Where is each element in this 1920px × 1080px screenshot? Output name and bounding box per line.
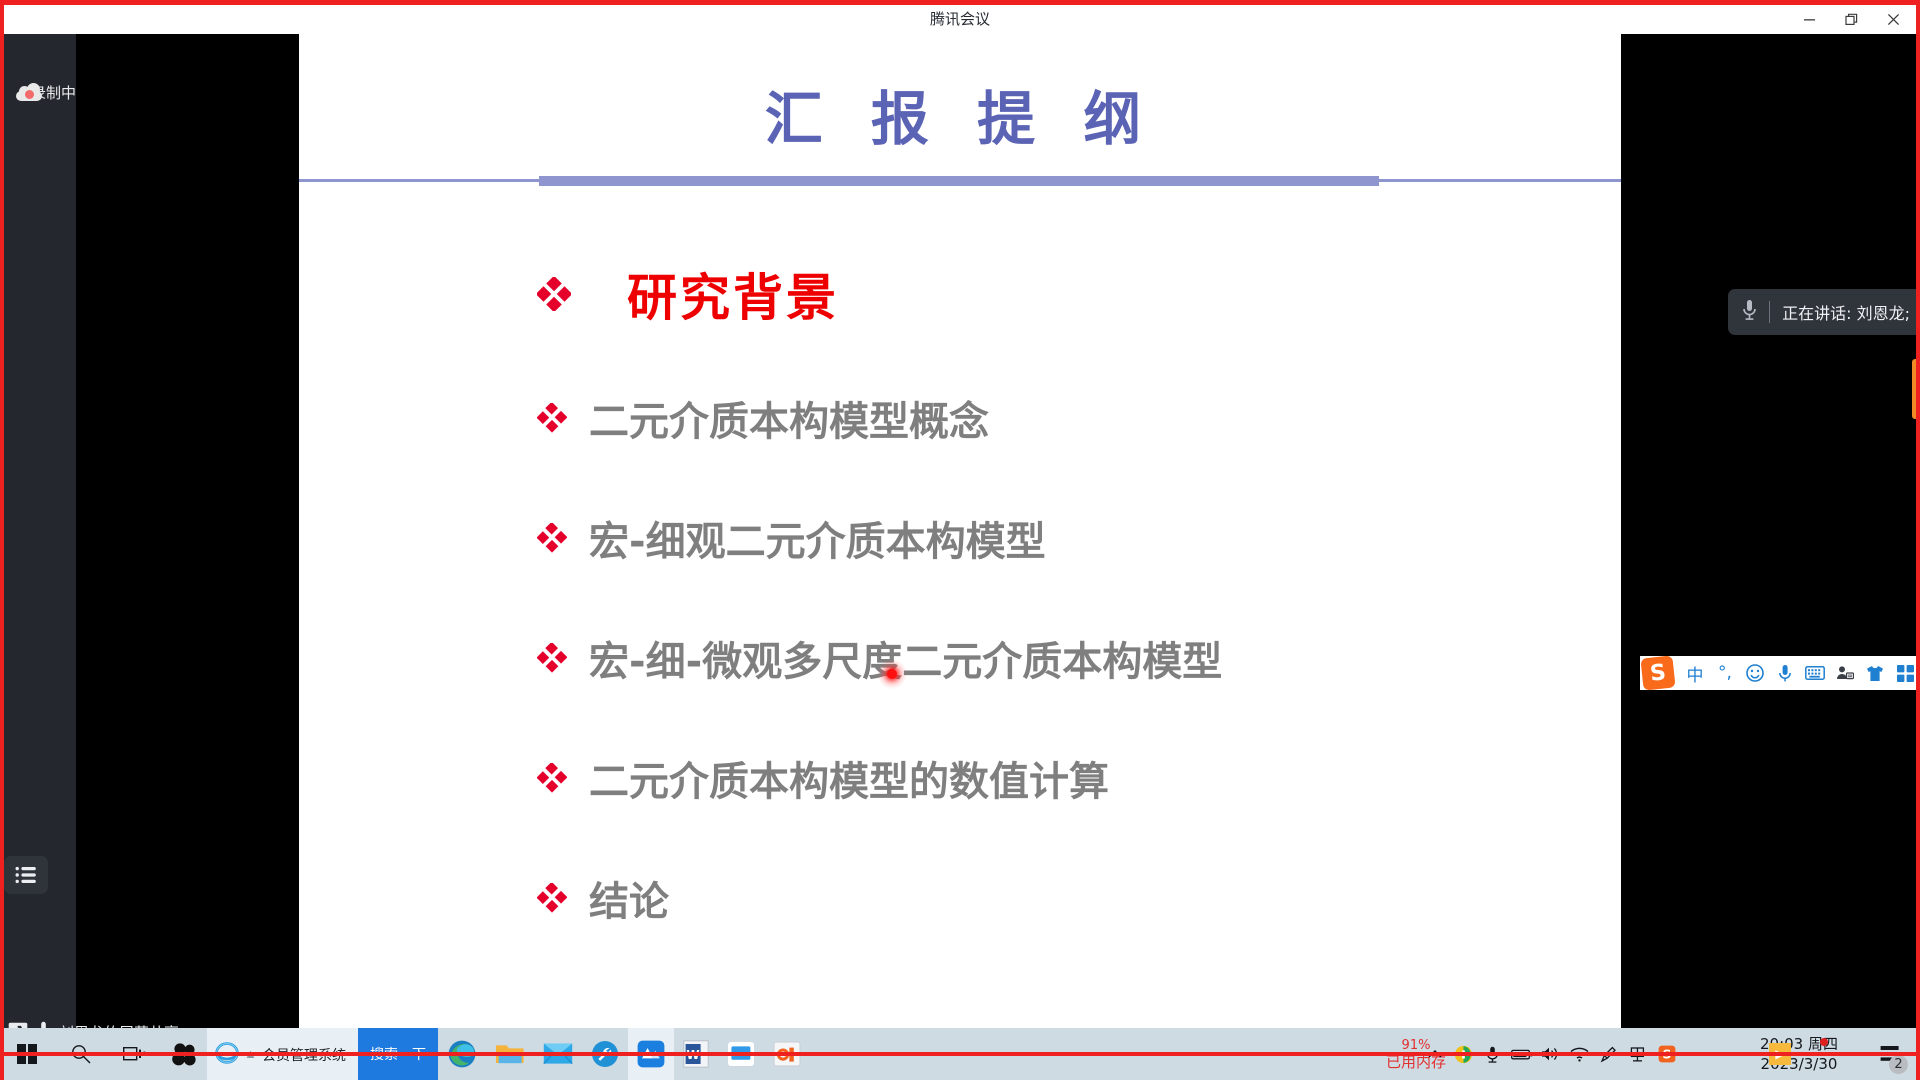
user-center-icon[interactable] xyxy=(1830,658,1860,688)
slide-bullet-label: 宏-细观二元介质本构模型 xyxy=(589,509,1046,567)
diamond-bullet-icon xyxy=(537,277,589,311)
soft-keyboard-icon[interactable] xyxy=(1800,658,1830,688)
slide-title: 汇 报 提 纲 xyxy=(299,72,1621,156)
diamond-bullet-icon xyxy=(537,523,589,553)
left-panel xyxy=(0,34,76,1052)
slide-bullet-label: 二元介质本构模型概念 xyxy=(589,389,989,447)
diamond-bullet-icon xyxy=(537,643,589,673)
slide-bullet-item: 结论 xyxy=(299,838,1621,958)
participant-list-button[interactable] xyxy=(4,856,48,894)
title-divider xyxy=(299,176,1621,186)
recording-border-right xyxy=(1916,0,1920,1080)
meeting-stage: 录制中 汇 报 提 纲 xyxy=(0,34,1920,1052)
close-button[interactable] xyxy=(1872,5,1914,34)
recording-border-top xyxy=(0,0,1920,5)
slide-bullet-label: 研究背景 xyxy=(589,258,839,330)
chinese-mode-icon[interactable]: 中 xyxy=(1680,658,1710,688)
emoji-icon[interactable] xyxy=(1740,658,1770,688)
slide-bullet-item: 宏-细-微观多尺度二元介质本构模型 xyxy=(299,598,1621,718)
window-title: 腾讯会议 xyxy=(0,5,1920,34)
microphone-icon xyxy=(1742,299,1757,326)
recording-border-bottom xyxy=(0,1052,1920,1056)
window-title-bar: 腾讯会议 xyxy=(0,5,1920,34)
slide-bullet-label: 宏-细-微观多尺度二元介质本构模型 xyxy=(589,629,1222,687)
slide-bullet-label: 结论 xyxy=(589,869,669,927)
cloud-recording-icon xyxy=(16,84,21,101)
minimize-button[interactable] xyxy=(1788,5,1830,34)
sogou-logo-icon[interactable]: S xyxy=(1640,655,1675,690)
speaking-label: 正在讲话: 刘恩龙; xyxy=(1782,300,1910,324)
notification-count: 2 xyxy=(1889,1055,1908,1074)
punctuation-mode-icon[interactable]: °, xyxy=(1710,658,1740,688)
slide-bullet-item: 二元介质本构模型的数值计算 xyxy=(299,718,1621,838)
sogou-ime-toolbar[interactable]: S 中 °, xyxy=(1640,656,1920,690)
diamond-bullet-icon xyxy=(537,883,589,913)
recording-border-left xyxy=(0,0,4,1080)
recording-indicator: 录制中 xyxy=(0,62,76,122)
restore-button[interactable] xyxy=(1830,5,1872,34)
toast-divider xyxy=(1769,301,1770,323)
diamond-bullet-icon xyxy=(537,403,589,433)
slide-bullet-label: 二元介质本构模型的数值计算 xyxy=(589,749,1109,807)
notification-dot xyxy=(1820,1038,1828,1046)
shared-slide: 汇 报 提 纲 研究背景 xyxy=(299,34,1621,1052)
window-controls xyxy=(1788,5,1914,34)
list-icon xyxy=(15,866,37,884)
slide-bullet-item: 研究背景 xyxy=(299,230,1621,358)
skin-shirt-icon[interactable] xyxy=(1860,658,1890,688)
slide-bullet-item: 宏-细观二元介质本构模型 xyxy=(299,478,1621,598)
slide-bullet-list: 研究背景 二元介质本构模型概念 xyxy=(299,230,1621,958)
voice-input-icon[interactable] xyxy=(1770,658,1800,688)
slide-bullet-item: 二元介质本构模型概念 xyxy=(299,358,1621,478)
speaking-toast: 正在讲话: 刘恩龙; xyxy=(1728,289,1920,335)
diamond-bullet-icon xyxy=(537,763,589,793)
